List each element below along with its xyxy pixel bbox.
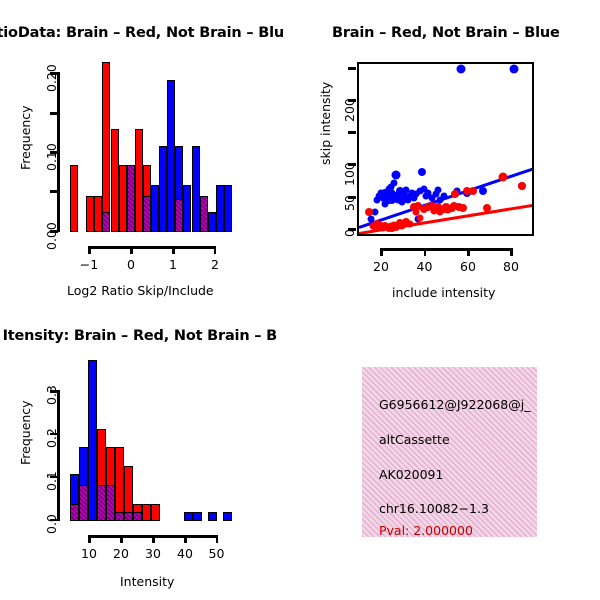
bar xyxy=(151,185,159,232)
bar xyxy=(115,512,124,521)
bar xyxy=(70,504,79,521)
bar xyxy=(97,485,106,521)
bar xyxy=(200,196,208,232)
ratio-x-tick-0 xyxy=(130,246,133,254)
bar xyxy=(193,512,202,521)
scatter-point xyxy=(510,64,519,73)
bar xyxy=(143,196,151,232)
ratio-histogram-xlabel: Log2 Ratio Skip/Include xyxy=(67,283,214,298)
info-panel-container: G6956612@J922068@j_ altCassette AK020091… xyxy=(300,310,600,600)
bar xyxy=(119,165,127,232)
intensity-histogram-title: ne Itensity: Brain – Red, Not Brain – B xyxy=(0,328,277,344)
bar xyxy=(192,146,200,232)
intensity-histogram-bars xyxy=(70,360,232,521)
bar xyxy=(208,512,217,521)
scatter-point xyxy=(407,221,414,228)
ratio-x-ticklabel-0: −1 xyxy=(79,257,99,272)
scatter-point xyxy=(483,204,491,212)
intensity-x-ticklabel-2: 30 xyxy=(143,546,163,561)
intensity-x-ticklabel-3: 40 xyxy=(175,546,195,561)
ratio-x-ticklabel-2: 1 xyxy=(163,257,183,272)
ratio-x-ticklabel-3: 2 xyxy=(205,257,225,272)
info-line-pval: Pval: 2.000000 xyxy=(379,523,473,538)
scatter-x-tick-20 xyxy=(380,248,383,256)
info-line-accession: AK020091 xyxy=(379,467,443,482)
intensity-x-ticklabel-1: 20 xyxy=(111,546,131,561)
intensity-histogram-panel: ne Itensity: Brain – Red, Not Brain – B … xyxy=(0,310,300,600)
bar xyxy=(135,129,143,232)
scatter-x-tick-40 xyxy=(424,248,427,256)
bar xyxy=(127,165,135,232)
bar xyxy=(159,146,167,232)
scatter-xlabel: include intensity xyxy=(392,285,495,300)
scatter-x-ticklabel-1: 40 xyxy=(415,259,435,274)
scatter-x-ticklabel-2: 60 xyxy=(458,259,478,274)
scatter-point xyxy=(417,214,424,221)
bar xyxy=(111,129,119,232)
ratio-x-ticklabel-1: 0 xyxy=(121,257,141,272)
scatter-point xyxy=(365,208,373,216)
scatter-x-ticklabel-0: 20 xyxy=(371,259,391,274)
intensity-histogram-y-axis xyxy=(57,390,60,521)
ratio-histogram-ylabel: Frequency xyxy=(18,105,33,170)
scatter-plot-area xyxy=(357,62,534,236)
scatter-y-tick-250 xyxy=(348,67,356,70)
bar xyxy=(167,80,175,232)
bar xyxy=(142,504,151,521)
intensity-y-ticklabel-0: 0.0 xyxy=(44,514,59,534)
ratio-y-ticklabel-2: 0.20 xyxy=(44,64,59,92)
intensity-x-tick-20 xyxy=(120,535,123,543)
intensity-y-ticklabel-2: 0.2 xyxy=(44,428,59,448)
bar xyxy=(133,512,142,521)
ratio-x-tick-1 xyxy=(172,246,175,254)
scatter-panel: Brain – Red, Not Brain – Blue skip inten… xyxy=(300,0,600,310)
bar xyxy=(88,360,97,521)
intensity-y-ticklabel-3: 0.3 xyxy=(44,385,59,405)
bar xyxy=(70,165,78,232)
intensity-x-tick-40 xyxy=(184,535,187,543)
scatter-y-ticklabel-0: 0 xyxy=(342,229,357,237)
intensity-x-tick-30 xyxy=(152,535,155,543)
scatter-y-ticklabel-2: 100 xyxy=(342,162,357,186)
scatter-point xyxy=(469,187,477,195)
ratio-histogram-bars xyxy=(70,58,232,232)
scatter-x-axis xyxy=(380,248,512,251)
bar xyxy=(124,512,133,521)
scatter-point xyxy=(457,64,466,73)
ratio-histogram-panel: RatioData: Brain – Red, Not Brain – Blu … xyxy=(0,0,300,310)
bar xyxy=(102,62,110,232)
scatter-point xyxy=(518,182,526,190)
ratio-y-ticklabel-0: 0.00 xyxy=(44,222,59,250)
scatter-point xyxy=(392,170,401,179)
bar xyxy=(94,196,102,232)
ratio-y-tick-005 xyxy=(50,190,58,193)
ratio-y-ticklabel-1: 0.10 xyxy=(44,143,59,171)
info-line-locus: chr16.10082−1.3 xyxy=(379,501,489,516)
bar xyxy=(106,485,115,521)
ratio-y-tick-015 xyxy=(50,112,58,115)
ratio-x-tick-2 xyxy=(214,246,217,254)
bar xyxy=(79,485,88,521)
scatter-x-tick-80 xyxy=(510,248,513,256)
bar xyxy=(224,185,232,232)
scatter-point xyxy=(498,173,507,182)
bar xyxy=(208,212,216,232)
bar xyxy=(223,512,232,521)
scatter-point xyxy=(459,204,467,212)
bar xyxy=(175,199,183,232)
intensity-x-ticklabel-0: 10 xyxy=(79,546,99,561)
scatter-point xyxy=(391,180,398,187)
info-line-event-type: altCassette xyxy=(379,432,450,447)
bar xyxy=(102,212,110,232)
scatter-x-ticklabel-3: 80 xyxy=(501,259,521,274)
scatter-point xyxy=(440,192,447,199)
ratio-x-tick-n1 xyxy=(88,246,91,254)
intensity-histogram-xlabel: Intensity xyxy=(120,574,174,589)
scatter-y-ticklabel-3: 200 xyxy=(342,98,357,122)
scatter-point xyxy=(434,186,441,193)
scatter-y-ticklabel-1: 50 xyxy=(342,195,357,211)
info-line-gene-id: G6956612@J922068@j_ xyxy=(379,397,530,412)
bar xyxy=(115,447,124,521)
ratio-histogram-title: RatioData: Brain – Red, Not Brain – Blu xyxy=(0,25,284,41)
scatter-y-tick-150 xyxy=(348,131,356,134)
ratio-histogram-x-axis xyxy=(88,246,216,249)
intensity-x-tick-10 xyxy=(88,535,91,543)
intensity-x-tick-50 xyxy=(216,535,219,543)
bar xyxy=(184,512,193,521)
intensity-histogram-ylabel: Frequency xyxy=(18,400,33,465)
bar xyxy=(183,185,191,232)
bar xyxy=(216,185,224,232)
scatter-point xyxy=(479,187,487,195)
annotation-panel: G6956612@J922068@j_ altCassette AK020091… xyxy=(362,367,537,537)
scatter-point xyxy=(418,168,426,176)
intensity-x-ticklabel-4: 50 xyxy=(207,546,227,561)
scatter-ylabel: skip intensity xyxy=(318,82,333,165)
scatter-point xyxy=(451,190,459,198)
scatter-title: Brain – Red, Not Brain – Blue xyxy=(332,25,560,41)
intensity-y-ticklabel-1: 0.1 xyxy=(44,471,59,491)
scatter-x-tick-60 xyxy=(467,248,470,256)
bar xyxy=(151,504,160,521)
bar xyxy=(86,196,94,232)
